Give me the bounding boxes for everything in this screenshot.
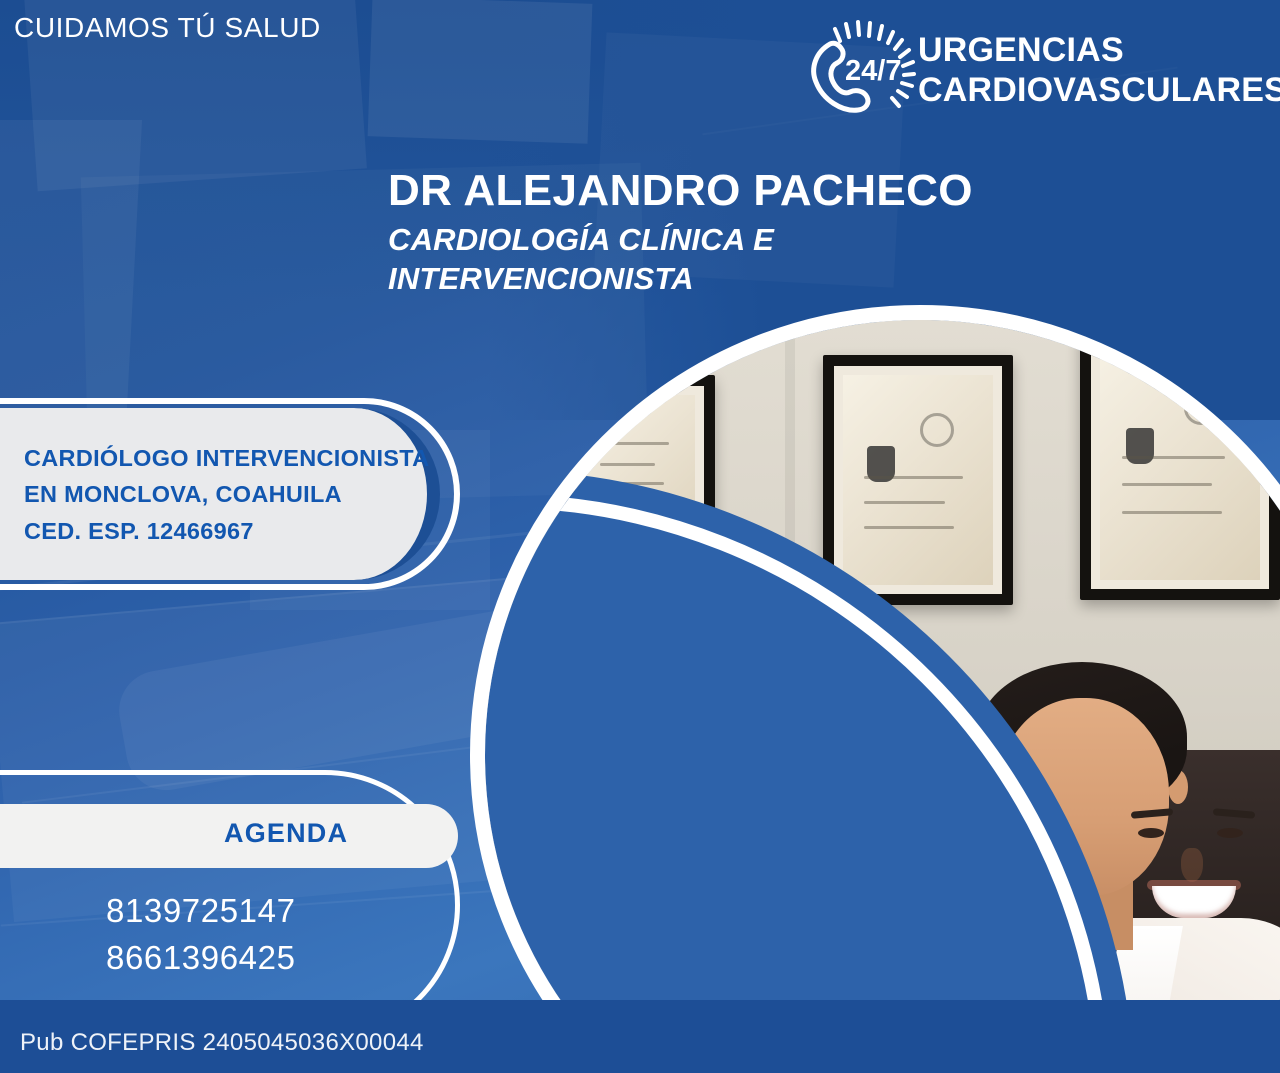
emergency-line-2: CARDIOVASCULARES — [918, 70, 1280, 110]
phone-number-2[interactable]: 8661396425 — [106, 935, 296, 982]
emergency-line-1: URGENCIAS — [918, 30, 1280, 70]
credentials-line-2: EN MONCLOVA, COAHUILA — [24, 476, 429, 512]
phone-number-1[interactable]: 8139725147 — [106, 888, 296, 935]
doctor-name: DR ALEJANDRO PACHECO — [388, 168, 1108, 214]
contact-phone-list[interactable]: 8139725147 8661396425 — [106, 888, 296, 982]
phone-247-icon: 24/7 — [800, 18, 920, 123]
background-ghost-shape — [368, 0, 593, 144]
svg-text:24/7: 24/7 — [845, 55, 901, 87]
cofepris-registration: Pub COFEPRIS 2405045036X00044 — [20, 1029, 424, 1057]
credentials-text: CARDIÓLOGO INTERVENCIONISTA EN MONCLOVA,… — [24, 440, 429, 549]
doctor-name-block: DR ALEJANDRO PACHECO CARDIOLOGÍA CLÍNICA… — [388, 168, 1108, 298]
agenda-label: AGENDA — [224, 818, 348, 849]
doctor-specialty: CARDIOLOGÍA CLÍNICA E INTERVENCIONISTA — [388, 221, 858, 298]
emergency-badge-text: URGENCIAS CARDIOVASCULARES — [918, 30, 1280, 110]
credentials-line-1: CARDIÓLOGO INTERVENCIONISTA — [24, 440, 429, 476]
poster-root: EPSON Atherosclerosis model 动脉粥样硬化的 — [0, 0, 1280, 1073]
emergency-badge: 24/7 URGENCIAS CARDIOVASCULARES — [800, 14, 1270, 124]
page-tagline: CUIDAMOS TÚ SALUD — [14, 12, 321, 44]
credentials-line-3: CED. ESP. 12466967 — [24, 513, 429, 549]
